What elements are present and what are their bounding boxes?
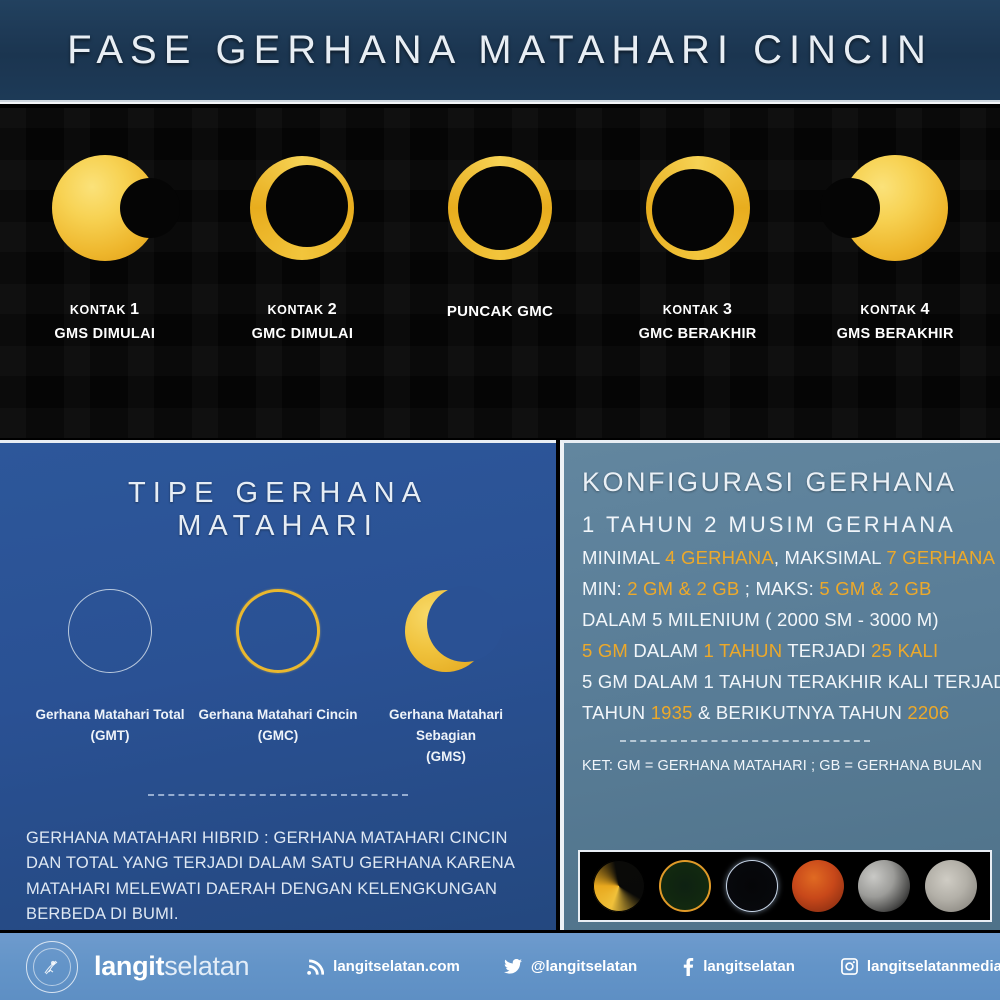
phase-item: KONTAK 1 GMS DIMULAI bbox=[10, 108, 200, 345]
eclipse-type-item: Gerhana Matahari Total (GMT) bbox=[28, 585, 193, 747]
config-line-min-max-breakdown: MIN: 2 GM & 2 GB ; MAKS: 5 GM & 2 GB bbox=[582, 578, 986, 600]
text-fragment: & BERIKUTNYA TAHUN bbox=[693, 702, 908, 723]
phase-number: 1 bbox=[130, 301, 140, 318]
highlight-year: 1935 bbox=[651, 702, 693, 723]
eclipse-phases-section: KONTAK 1 GMS DIMULAI KONTAK 2 GMC DIMULA… bbox=[0, 108, 1000, 438]
text-fragment: TAHUN bbox=[582, 702, 651, 723]
phase-item: KONTAK 3 GMC BERAKHIR bbox=[603, 108, 793, 345]
phase-number: 4 bbox=[921, 301, 931, 318]
phase-caption: PUNCAK GMC bbox=[447, 298, 553, 323]
phase-label: GMC BERAKHIR bbox=[639, 324, 757, 345]
phase-contact-label: KONTAK bbox=[268, 303, 324, 317]
social-label: langitselatan.com bbox=[333, 958, 460, 975]
eclipse-type-caption: Gerhana Matahari Total (GMT) bbox=[35, 705, 184, 747]
highlight-value: 5 GM & 2 GB bbox=[819, 578, 931, 599]
instagram-icon bbox=[841, 958, 858, 975]
langitselatan-emblem-icon bbox=[26, 941, 78, 993]
phase-label: GMC DIMULAI bbox=[252, 324, 354, 345]
highlight-value: 4 GERHANA bbox=[665, 547, 774, 568]
phase-caption: KONTAK 1 GMS DIMULAI bbox=[54, 298, 155, 345]
highlight-value: 7 GERHANA bbox=[886, 547, 995, 568]
social-link-facebook[interactable]: langitselatan bbox=[683, 958, 795, 976]
annular-ring-peak-icon bbox=[448, 118, 552, 298]
types-panel-title: TIPE GERHANA MATAHARI bbox=[26, 477, 530, 543]
eclipse-type-caption: Gerhana Matahari Cincin (GMC) bbox=[198, 705, 357, 747]
gold-ring-icon bbox=[236, 585, 320, 677]
highlight-value: 1 TAHUN bbox=[703, 640, 782, 661]
highlight-value: 5 GM bbox=[582, 640, 628, 661]
facebook-icon bbox=[683, 958, 694, 976]
eclipse-photo-strip bbox=[578, 850, 992, 922]
social-links: langitselatan.com @langitselatan langits… bbox=[307, 958, 1000, 976]
text-fragment: TERJADI bbox=[782, 640, 871, 661]
config-line-min-max-eclipses: MINIMAL 4 GERHANA, MAKSIMAL 7 GERHANA bbox=[582, 547, 986, 569]
divider bbox=[620, 740, 870, 742]
brand-bold-text: langit bbox=[94, 951, 164, 981]
blood-moon-lunar-eclipse-photo bbox=[792, 860, 844, 912]
eclipse-type-abbr: (GMS) bbox=[364, 747, 529, 768]
eclipse-configuration-panel: KONFIGURASI GERHANA 1 TAHUN 2 MUSIM GERH… bbox=[560, 440, 1000, 930]
social-label: langitselatan bbox=[703, 958, 795, 975]
rss-icon bbox=[307, 958, 324, 975]
circle-outline-icon bbox=[68, 585, 152, 677]
gold-crescent-icon bbox=[405, 585, 487, 677]
social-link-twitter[interactable]: @langitselatan bbox=[504, 958, 637, 975]
page-title: FASE GERHANA MATAHARI CINCIN bbox=[67, 28, 933, 73]
eclipse-type-name: Gerhana Matahari Total bbox=[35, 705, 184, 726]
config-subtitle: 1 TAHUN 2 MUSIM GERHANA bbox=[582, 512, 986, 538]
text-fragment: MIN: bbox=[582, 578, 627, 599]
text-fragment: , MAKSIMAL bbox=[774, 547, 887, 568]
footer-bar: langitselatan langitselatan.com @langits… bbox=[0, 933, 1000, 1000]
social-label: @langitselatan bbox=[531, 958, 637, 975]
divider bbox=[148, 794, 408, 796]
social-label: langitselatanmedia bbox=[867, 958, 1000, 975]
phase-contact-label: KONTAK bbox=[663, 303, 719, 317]
text-fragment: DALAM bbox=[628, 640, 703, 661]
eclipse-type-item: Gerhana Matahari Cincin (GMC) bbox=[196, 585, 361, 747]
annular-ring-icon bbox=[250, 118, 354, 298]
highlight-value: 25 KALI bbox=[871, 640, 938, 661]
full-moon-photo bbox=[925, 860, 977, 912]
phase-label: GMS DIMULAI bbox=[54, 324, 155, 345]
config-line-last-occurrence-intro: 5 GM DALAM 1 TAHUN TERAKHIR KALI TERJADI bbox=[582, 671, 986, 693]
highlight-year: 2206 bbox=[907, 702, 949, 723]
config-panel-title: KONFIGURASI GERHANA bbox=[582, 467, 986, 498]
phase-caption: KONTAK 2 GMC DIMULAI bbox=[252, 298, 354, 345]
phase-number: 3 bbox=[723, 301, 733, 318]
text-fragment: MINIMAL bbox=[582, 547, 665, 568]
phase-number: 2 bbox=[328, 301, 338, 318]
annular-ring-icon bbox=[646, 118, 750, 298]
phase-caption: KONTAK 4 GMS BERAKHIR bbox=[837, 298, 954, 345]
partial-lunar-eclipse-photo bbox=[858, 860, 910, 912]
eclipse-type-abbr: (GMC) bbox=[198, 726, 357, 747]
phase-contact-label: KONTAK bbox=[70, 303, 126, 317]
eclipse-types-panel: TIPE GERHANA MATAHARI Gerhana Matahari T… bbox=[0, 440, 556, 930]
brand-logo[interactable]: langitselatan bbox=[26, 941, 249, 993]
phase-item: KONTAK 4 GMS BERAKHIR bbox=[800, 108, 990, 345]
phase-caption: KONTAK 3 GMC BERAKHIR bbox=[639, 298, 757, 345]
eclipse-type-abbr: (GMT) bbox=[35, 726, 184, 747]
eclipse-type-item: Gerhana Matahari Sebagian (GMS) bbox=[364, 585, 529, 768]
phase-contact-label: KONTAK bbox=[860, 303, 916, 317]
highlight-value: 2 GM & 2 GB bbox=[627, 578, 739, 599]
eclipse-type-name: Gerhana Matahari Cincin bbox=[198, 705, 357, 726]
eclipse-type-name: Gerhana Matahari Sebagian bbox=[364, 705, 529, 747]
partial-sun-bite-left-icon bbox=[842, 118, 948, 298]
config-line-millennium-range: DALAM 5 MILENIUM ( 2000 SM - 3000 M) bbox=[582, 609, 986, 631]
phase-item: KONTAK 2 GMC DIMULAI bbox=[207, 108, 397, 345]
annular-eclipse-crescent-photo bbox=[593, 860, 645, 912]
header-bar: FASE GERHANA MATAHARI CINCIN bbox=[0, 0, 1000, 104]
eclipse-types-list: Gerhana Matahari Total (GMT) Gerhana Mat… bbox=[26, 585, 530, 768]
annular-eclipse-dark-disc-photo bbox=[659, 860, 711, 912]
phase-label: PUNCAK GMC bbox=[447, 301, 553, 323]
infographic-page: FASE GERHANA MATAHARI CINCIN KONTAK 1 GM… bbox=[0, 0, 1000, 1000]
brand-light-text: selatan bbox=[164, 951, 249, 981]
phase-label: GMS BERAKHIR bbox=[837, 324, 954, 345]
total-eclipse-diamond-ring-photo bbox=[726, 860, 778, 912]
social-link-website[interactable]: langitselatan.com bbox=[307, 958, 460, 975]
legend-note: KET: GM = GERHANA MATAHARI ; GB = GERHAN… bbox=[582, 758, 986, 774]
social-link-instagram[interactable]: langitselatanmedia bbox=[841, 958, 1000, 975]
twitter-icon bbox=[504, 959, 522, 974]
config-line-years: TAHUN 1935 & BERIKUTNYA TAHUN 2206 bbox=[582, 702, 986, 724]
brand-wordmark: langitselatan bbox=[94, 951, 249, 982]
partial-sun-bite-right-icon bbox=[52, 118, 158, 298]
config-line-five-gm-frequency: 5 GM DALAM 1 TAHUN TERJADI 25 KALI bbox=[582, 640, 986, 662]
phase-item: PUNCAK GMC bbox=[405, 108, 595, 323]
hybrid-eclipse-description: GERHANA MATAHARI HIBRID : GERHANA MATAHA… bbox=[26, 826, 530, 928]
eclipse-type-caption: Gerhana Matahari Sebagian (GMS) bbox=[364, 705, 529, 768]
text-fragment: ; MAKS: bbox=[739, 578, 819, 599]
